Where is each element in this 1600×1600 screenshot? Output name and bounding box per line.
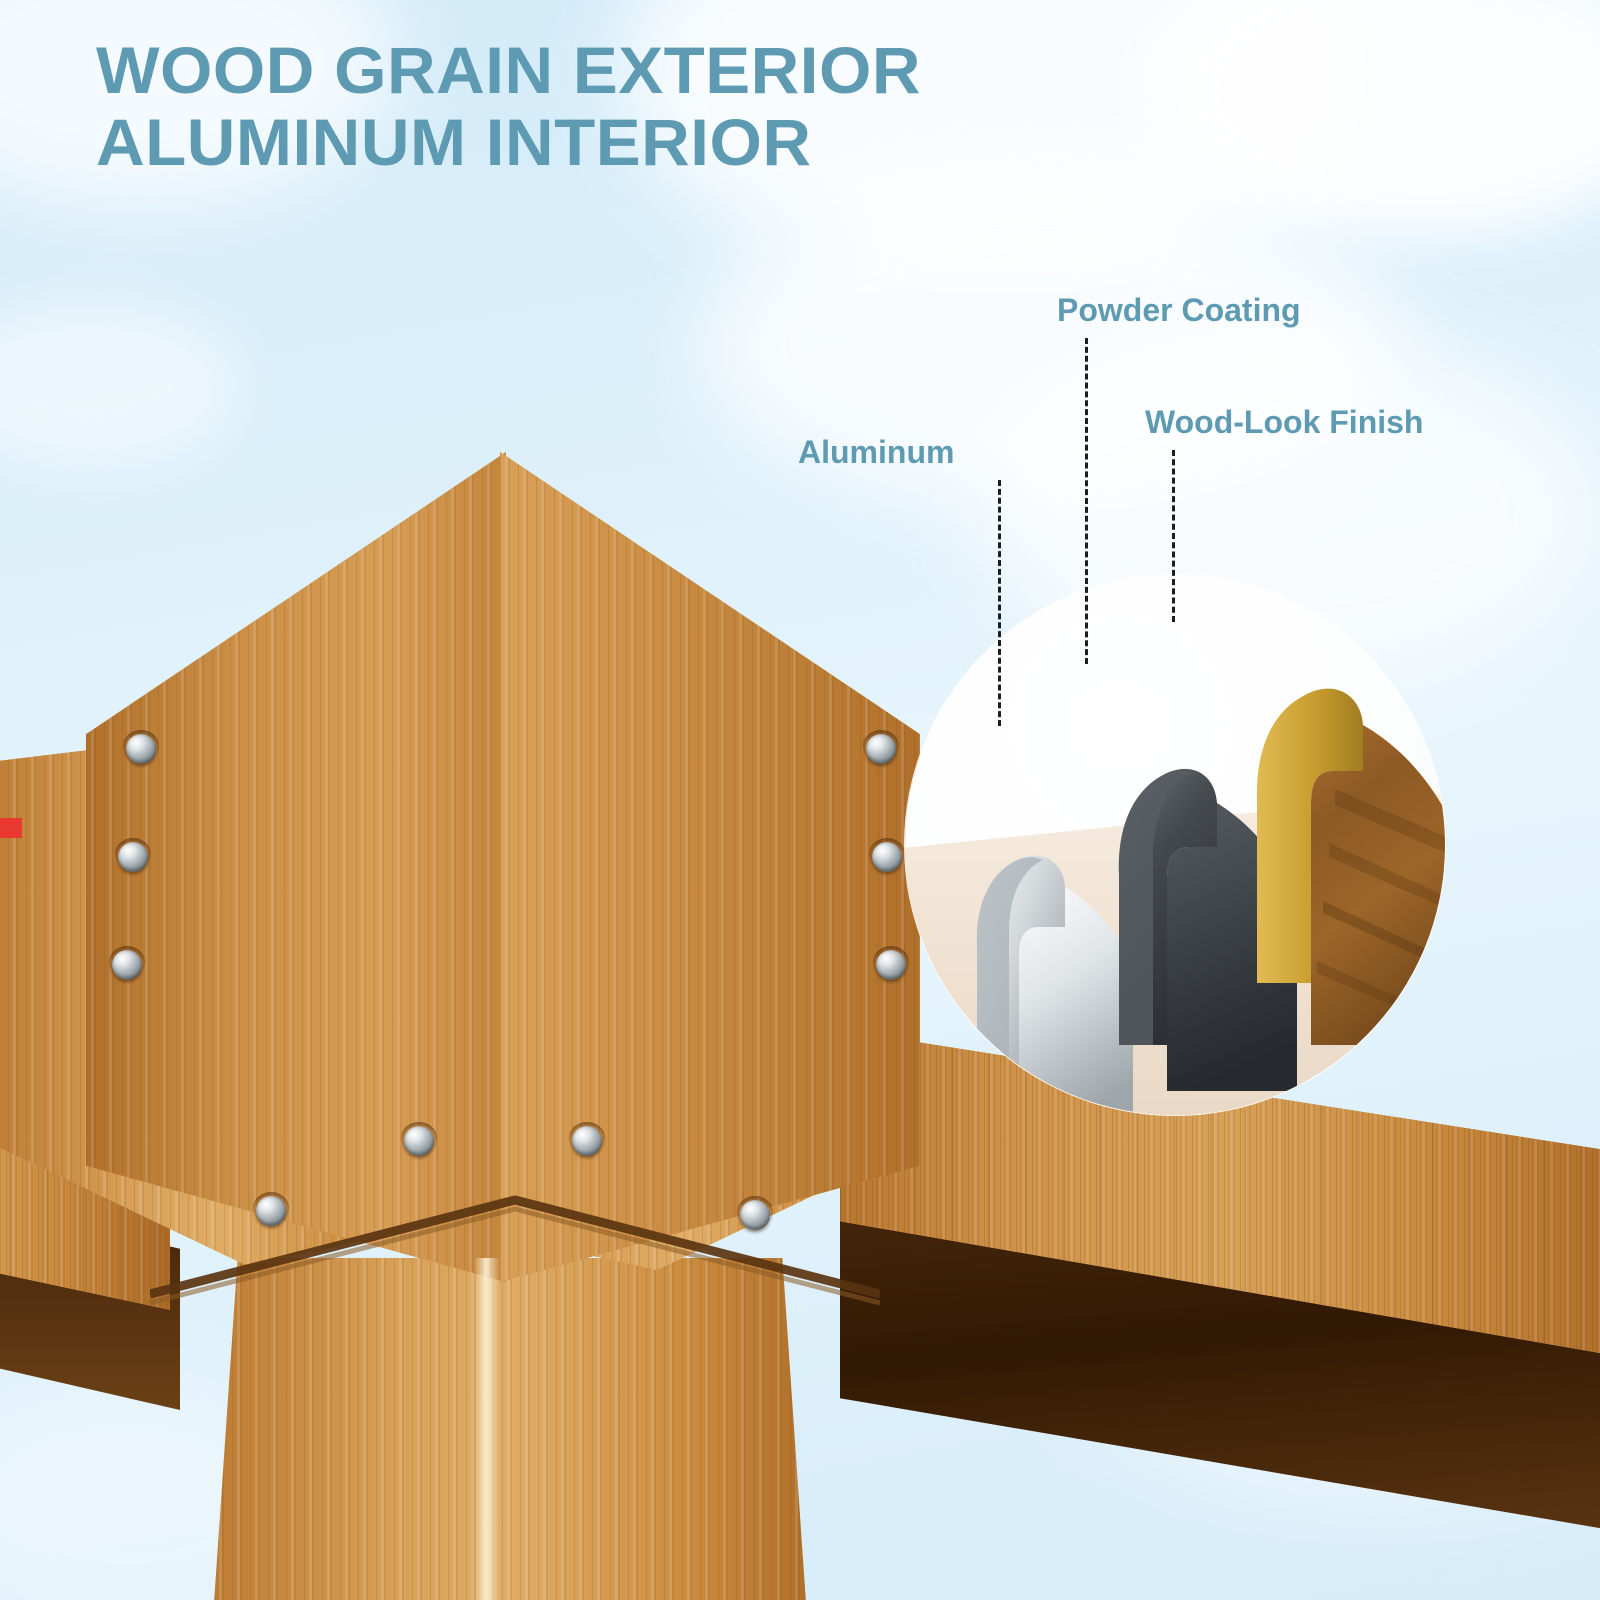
infographic-canvas: WOOD GRAIN EXTERIOR ALUMINUM INTERIOR — [0, 0, 1600, 1600]
screw-head — [572, 1126, 602, 1156]
bracket-cap-left-face — [86, 452, 506, 1282]
screw-head — [876, 950, 906, 980]
leader-line-powder-coating — [1085, 338, 1088, 664]
vertical-post — [214, 1258, 806, 1600]
headline-line-1: WOOD GRAIN EXTERIOR — [96, 34, 1238, 106]
screw-head — [256, 1196, 286, 1226]
screw-head — [740, 1200, 770, 1230]
screw-head — [404, 1126, 434, 1156]
screw-head — [112, 950, 142, 980]
screw-head — [872, 842, 902, 872]
red-edge-marker — [0, 818, 22, 838]
post-edge-highlight — [474, 1258, 500, 1600]
headline-line-2: ALUMINUM INTERIOR — [96, 106, 1238, 178]
leader-line-aluminum — [998, 480, 1001, 726]
cross-section-detail-circle — [905, 575, 1445, 1115]
bracket-cap-right-face — [500, 452, 920, 1282]
callout-label-wood-look-finish: Wood-Look Finish — [1145, 404, 1423, 441]
screw-head — [118, 842, 148, 872]
leader-line-wood-look — [1172, 450, 1175, 622]
screw-head — [866, 734, 896, 764]
callout-label-powder-coating: Powder Coating — [1057, 292, 1301, 329]
cross-section-layers — [905, 575, 1445, 1115]
headline-block: WOOD GRAIN EXTERIOR ALUMINUM INTERIOR — [96, 34, 1216, 178]
callout-label-aluminum: Aluminum — [798, 434, 954, 471]
screw-head — [126, 734, 156, 764]
